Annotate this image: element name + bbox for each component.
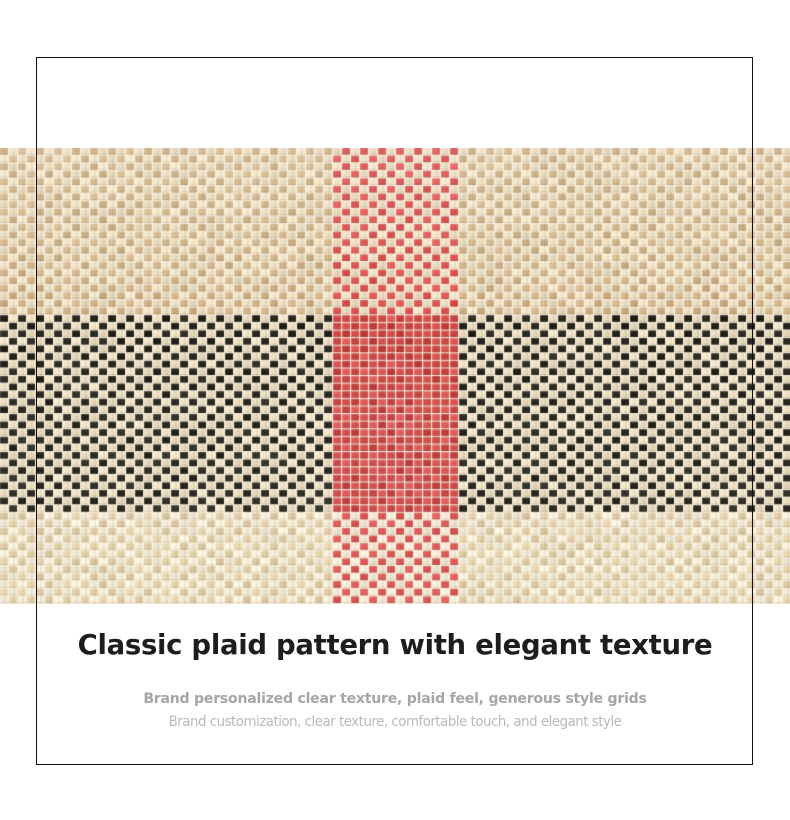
plaid-weave-canvas [0, 148, 790, 604]
caption-subtitle-secondary: Brand customization, clear texture, comf… [24, 713, 767, 732]
fabric-swatch-image [0, 148, 790, 604]
caption-subtitle-primary: Brand personalized clear texture, plaid … [14, 689, 776, 709]
page-title: Classic plaid pattern with elegant textu… [0, 630, 790, 662]
caption-block: Classic plaid pattern with elegant textu… [0, 630, 790, 732]
product-image-page: Classic plaid pattern with elegant textu… [0, 0, 790, 820]
